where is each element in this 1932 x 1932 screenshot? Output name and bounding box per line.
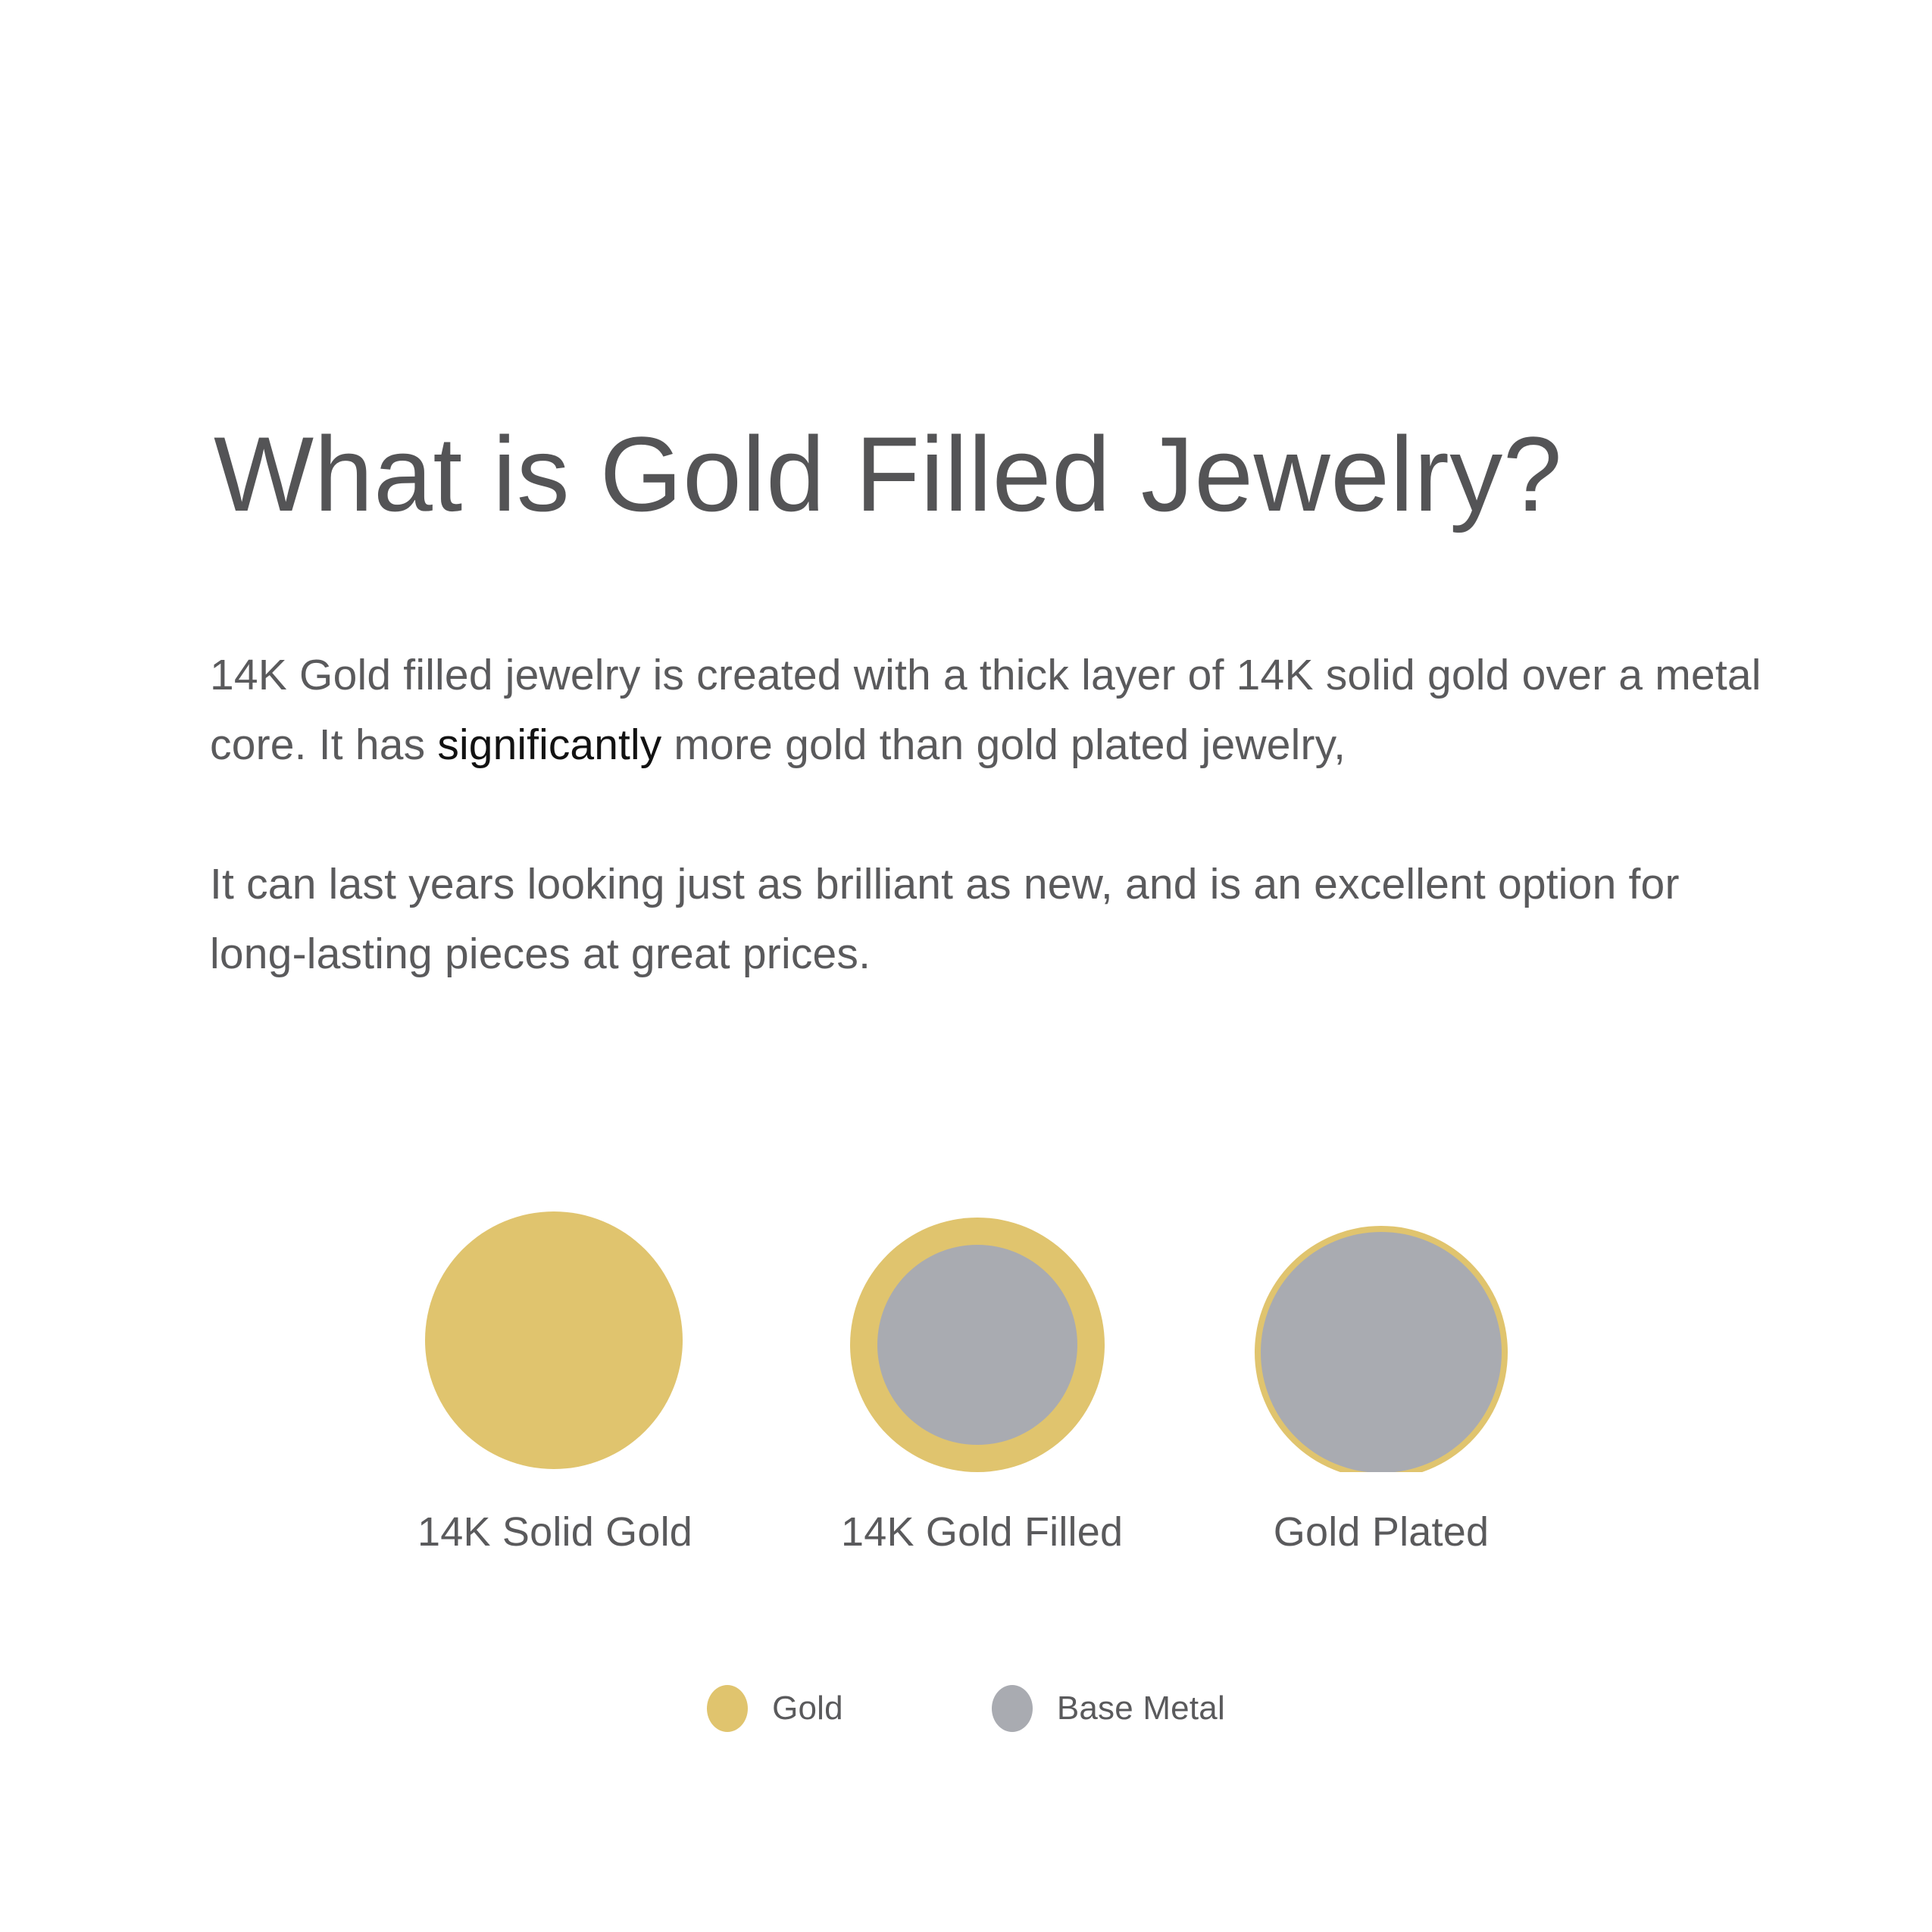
sample-gold-filled: 14K Gold Filled — [841, 1208, 1114, 1555]
paragraph-1-emphasis: significantly — [437, 721, 661, 769]
legend-swatch-gold-icon — [707, 1685, 748, 1732]
page-title: What is Gold Filled Jewelry? — [214, 421, 1759, 527]
paragraph-1-tail: more gold than gold plated jewelry, — [661, 721, 1346, 769]
legend-swatch-base-metal-icon — [992, 1685, 1033, 1732]
paragraph-2: It can last years looking just as brilli… — [210, 849, 1778, 989]
sample-label-gold-filled: 14K Gold Filled — [841, 1508, 1114, 1555]
disc-gold-plated — [1245, 1208, 1518, 1472]
paragraph-1: 14K Gold filled jewelry is created with … — [210, 640, 1778, 780]
disc-solid-gold — [417, 1208, 690, 1472]
infographic-canvas: What is Gold Filled Jewelry? 14K Gold fi… — [0, 0, 1932, 1932]
sample-gold-plated: Gold Plated — [1245, 1208, 1518, 1555]
sample-solid-gold: 14K Solid Gold — [417, 1208, 690, 1555]
paragraph-spacer — [210, 780, 1778, 849]
gold-comparison-diagram: 14K Solid Gold 14K Gold Filled Gold Plat… — [0, 1208, 1932, 1633]
legend-label-gold: Gold — [772, 1690, 843, 1727]
disc-gold-filled — [841, 1208, 1114, 1472]
sample-label-solid-gold: 14K Solid Gold — [417, 1508, 690, 1555]
legend-item-base-metal: Base Metal — [992, 1685, 1225, 1732]
legend-item-gold: Gold — [707, 1685, 843, 1732]
gold-plated-base-metal-core — [1261, 1232, 1502, 1472]
diagram-legend: Gold Base Metal — [0, 1685, 1932, 1732]
gold-filled-base-metal-core — [877, 1245, 1077, 1445]
solid-gold-outer-disc — [425, 1211, 683, 1469]
body-copy: 14K Gold filled jewelry is created with … — [210, 640, 1778, 989]
sample-label-gold-plated: Gold Plated — [1245, 1508, 1518, 1555]
legend-label-base-metal: Base Metal — [1057, 1690, 1225, 1727]
